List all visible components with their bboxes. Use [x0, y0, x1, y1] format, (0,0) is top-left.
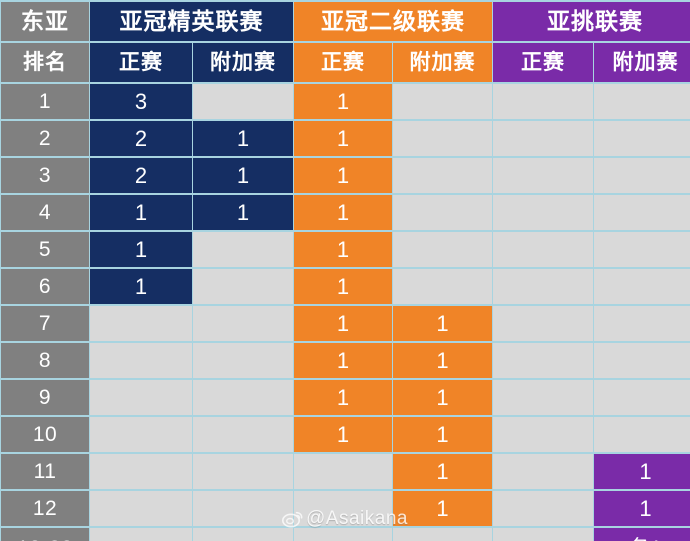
- data-cell: 1: [294, 343, 392, 378]
- data-cell: [193, 454, 293, 489]
- data-cell: [594, 84, 690, 119]
- sub-header-1: 正赛: [90, 43, 192, 82]
- data-cell: [493, 121, 593, 156]
- data-cell: 2: [90, 158, 192, 193]
- data-cell: [193, 417, 293, 452]
- data-cell: 1: [294, 306, 392, 341]
- data-cell: [90, 306, 192, 341]
- data-cell: [193, 269, 293, 304]
- data-cell: [493, 195, 593, 230]
- data-cell: [193, 84, 293, 119]
- rank-cell: 4: [1, 195, 89, 230]
- data-cell: [193, 380, 293, 415]
- competition-header-3: 亚挑联赛: [493, 2, 690, 41]
- data-cell: [594, 343, 690, 378]
- rank-cell: 12: [1, 491, 89, 526]
- rank-cell: 7: [1, 306, 89, 341]
- data-cell: [193, 232, 293, 267]
- data-cell: 1: [393, 306, 492, 341]
- data-cell: [193, 528, 293, 541]
- data-cell: [393, 158, 492, 193]
- data-cell: 1: [294, 158, 392, 193]
- data-cell: 1: [90, 269, 192, 304]
- ranking-table: 东亚亚冠精英联赛亚冠二级联赛亚挑联赛排名正赛附加赛正赛附加赛正赛附加赛13122…: [0, 0, 690, 541]
- data-cell: 1: [294, 380, 392, 415]
- data-cell: [594, 269, 690, 304]
- data-cell: 3: [90, 84, 192, 119]
- data-cell: 1: [193, 195, 293, 230]
- data-cell: [493, 417, 593, 452]
- data-cell: [594, 380, 690, 415]
- data-cell: [393, 269, 492, 304]
- data-cell: [493, 306, 593, 341]
- data-cell: [90, 454, 192, 489]
- rank-cell: 3: [1, 158, 89, 193]
- data-cell: [90, 343, 192, 378]
- data-cell: [294, 491, 392, 526]
- data-cell: [193, 491, 293, 526]
- rank-cell: 13-22: [1, 528, 89, 541]
- data-cell: 1: [294, 232, 392, 267]
- data-cell: 1: [294, 121, 392, 156]
- data-cell: [493, 84, 593, 119]
- data-cell: [393, 232, 492, 267]
- data-cell: [294, 454, 392, 489]
- data-cell: 1: [193, 158, 293, 193]
- data-cell: [393, 121, 492, 156]
- data-cell: 1: [393, 380, 492, 415]
- data-cell: 1: [393, 454, 492, 489]
- data-cell: [393, 84, 492, 119]
- sub-header-3: 正赛: [294, 43, 392, 82]
- data-cell: [393, 195, 492, 230]
- data-cell: 1: [193, 121, 293, 156]
- data-cell: 1: [594, 454, 690, 489]
- rank-cell: 11: [1, 454, 89, 489]
- data-cell: 1: [294, 417, 392, 452]
- sub-header-6: 附加赛: [594, 43, 690, 82]
- data-cell: 1: [393, 343, 492, 378]
- data-cell: 各1: [594, 528, 690, 541]
- competition-header-1: 亚冠精英联赛: [90, 2, 293, 41]
- data-cell: 2: [90, 121, 192, 156]
- rank-column-header: 排名: [1, 43, 89, 82]
- rank-cell: 1: [1, 84, 89, 119]
- data-cell: 1: [294, 84, 392, 119]
- data-cell: [493, 454, 593, 489]
- data-cell: [90, 528, 192, 541]
- data-cell: 1: [393, 417, 492, 452]
- data-cell: [594, 417, 690, 452]
- data-cell: [193, 306, 293, 341]
- corner-label: 东亚: [1, 2, 89, 41]
- data-cell: [193, 343, 293, 378]
- data-cell: [594, 121, 690, 156]
- rank-cell: 10: [1, 417, 89, 452]
- data-cell: [493, 491, 593, 526]
- data-cell: [493, 528, 593, 541]
- data-cell: [493, 232, 593, 267]
- data-cell: [493, 158, 593, 193]
- rank-cell: 6: [1, 269, 89, 304]
- data-cell: [493, 380, 593, 415]
- sub-header-2: 附加赛: [193, 43, 293, 82]
- rank-cell: 8: [1, 343, 89, 378]
- data-cell: [294, 528, 392, 541]
- data-cell: 1: [393, 491, 492, 526]
- competition-header-2: 亚冠二级联赛: [294, 2, 492, 41]
- data-cell: 1: [594, 491, 690, 526]
- rank-cell: 2: [1, 121, 89, 156]
- data-cell: 1: [294, 269, 392, 304]
- data-cell: [90, 380, 192, 415]
- data-cell: [493, 343, 593, 378]
- data-cell: [594, 306, 690, 341]
- rank-cell: 9: [1, 380, 89, 415]
- data-cell: [90, 417, 192, 452]
- data-cell: [594, 232, 690, 267]
- data-cell: [393, 528, 492, 541]
- data-cell: 1: [90, 195, 192, 230]
- data-cell: 1: [90, 232, 192, 267]
- rank-cell: 5: [1, 232, 89, 267]
- sub-header-5: 正赛: [493, 43, 593, 82]
- data-cell: [594, 158, 690, 193]
- ranking-table-image: 东亚亚冠精英联赛亚冠二级联赛亚挑联赛排名正赛附加赛正赛附加赛正赛附加赛13122…: [0, 0, 690, 541]
- data-cell: [594, 195, 690, 230]
- data-cell: 1: [294, 195, 392, 230]
- sub-header-4: 附加赛: [393, 43, 492, 82]
- data-cell: [493, 269, 593, 304]
- data-cell: [90, 491, 192, 526]
